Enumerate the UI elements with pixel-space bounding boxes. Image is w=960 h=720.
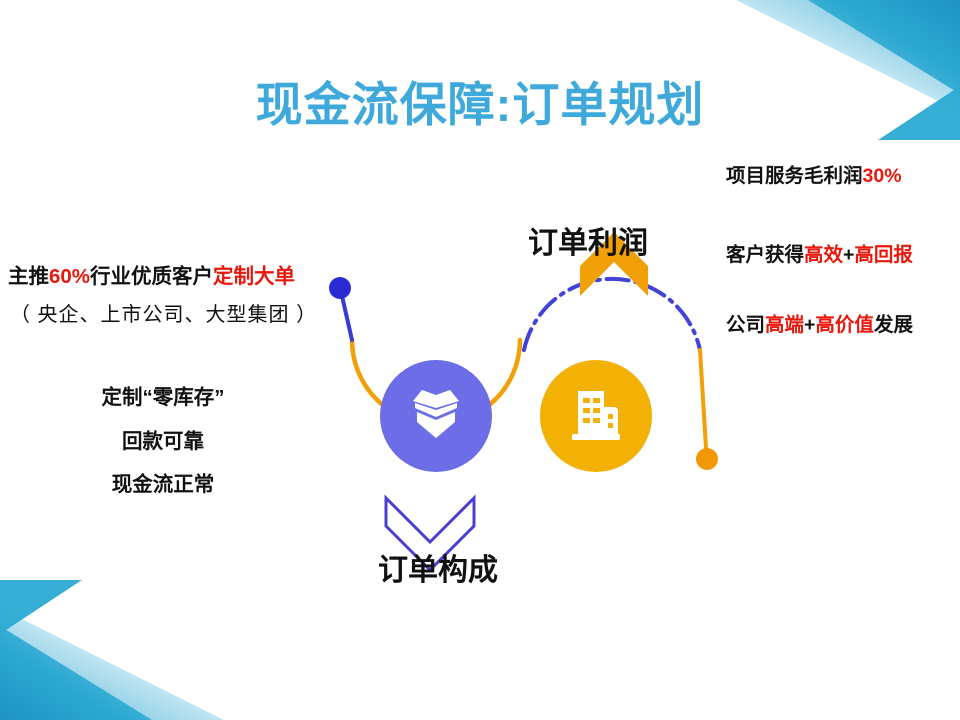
page-title: 现金流保障:订单规划 [0,66,960,135]
left-headline-part3: 定制大单 [213,265,295,288]
right-line-1-text: 项目服务毛利润 [726,165,863,187]
left-headline-part1: 主推 [8,265,49,288]
open-box-icon [405,388,467,444]
diagram-label-bottom: 订单构成 [318,545,558,589]
list-item: 现金流正常 [68,472,258,498]
right-line-3-suffix: 发展 [874,314,913,336]
orange-connector-right [700,350,706,448]
right-line-2-plus: + [843,244,854,266]
left-headline-part2: 行业优质客户 [90,265,213,288]
right-line-1-value: 30% [863,165,902,187]
right-line-3-plus: + [804,314,815,336]
left-headline: 主推60%行业优质客户定制大单 [8,264,295,290]
slide-canvas: 现金流保障:订单规划 主推60%行业优质客户定制大单 （ 央企、上市公司、大型集… [0,0,960,720]
right-line-3-kw1: 高端 [765,314,804,336]
left-headline-percent: 60% [49,265,90,288]
right-line-3: 公司高端+高价值发展 [726,313,913,337]
right-line-2: 客户获得高效+高回报 [726,243,913,267]
right-line-2-kw1: 高效 [804,244,843,266]
blue-dot [329,277,351,299]
right-line-2-prefix: 客户获得 [726,244,804,266]
blue-connector-left [342,296,352,340]
diagram-label-top: 订单利润 [468,218,708,262]
left-benefit-list: 定制“零库存” 回款可靠 现金流正常 [68,385,258,516]
orange-dot [696,448,718,470]
corner-decoration-bottom-left [0,580,300,720]
right-line-3-prefix: 公司 [726,314,765,336]
center-diagram: 订单利润 订单构成 [318,200,728,620]
right-line-3-kw2: 高价值 [815,314,874,336]
node-order-profit[interactable] [540,360,652,472]
node-order-composition[interactable] [380,360,492,472]
office-building-icon [566,387,626,445]
list-item: 定制“零库存” [68,385,258,411]
left-subline: （ 央企、上市公司、大型集团 ） [10,303,317,328]
list-item: 回款可靠 [68,429,258,455]
right-line-1: 项目服务毛利润30% [726,164,902,188]
blue-dashed-arc [524,279,700,350]
right-line-2-kw2: 高回报 [854,244,913,266]
